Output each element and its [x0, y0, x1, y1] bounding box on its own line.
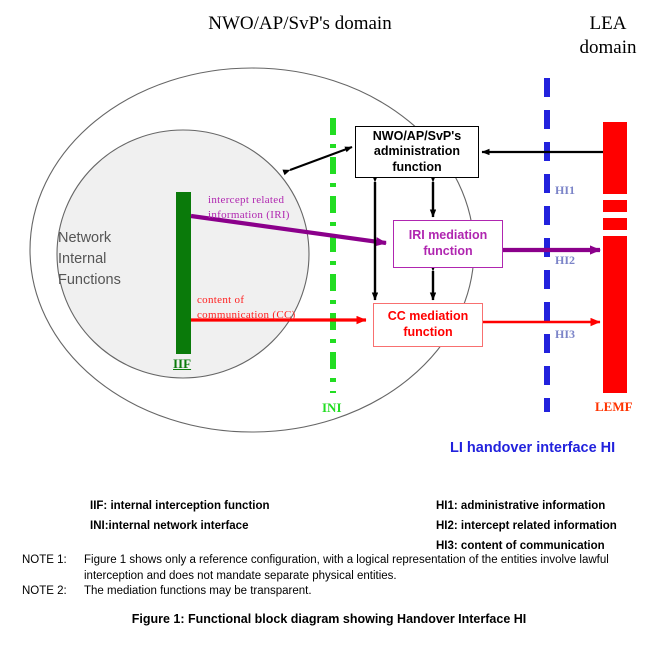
lemf-label: LEMF — [595, 399, 633, 415]
note-tag: NOTE 2: — [22, 584, 84, 600]
legend-item-iif: IIF: internal interception function — [90, 496, 270, 516]
lemf-bar-mid1 — [603, 200, 627, 212]
note-row: NOTE 2: The mediation functions may be t… — [22, 584, 658, 600]
cc-flow-label: content of communication (CC) — [197, 293, 296, 323]
hi1-label: HI1 — [555, 183, 575, 198]
cc-mediation-box[interactable]: CC mediation function — [373, 303, 483, 347]
legend-right: HI1: administrative information HI2: int… — [436, 496, 617, 556]
legend-left: IIF: internal interception function INI:… — [90, 496, 270, 536]
legend-item-ini: INI:internal network interface — [90, 516, 270, 536]
hi2-label: HI2 — [555, 253, 575, 268]
iif-bar — [176, 192, 191, 354]
hi3-label: HI3 — [555, 327, 575, 342]
admin-to-network-arrow — [290, 147, 352, 170]
iri-flow-label: intercept related information (IRI) — [208, 193, 290, 223]
ini-label: INI — [322, 400, 342, 416]
iif-label: IIF — [173, 356, 191, 372]
admin-function-box[interactable]: NWO/AP/SvP's administration function — [355, 126, 479, 178]
note-body: Figure 1 shows only a reference configur… — [84, 553, 658, 584]
figure-caption: Figure 1: Functional block diagram showi… — [0, 612, 658, 626]
note-row: NOTE 1: Figure 1 shows only a reference … — [22, 553, 658, 584]
lemf-bar-top — [603, 122, 627, 194]
li-handover-interface-label: LI handover interface HI — [450, 440, 615, 456]
figure-canvas: NWO/AP/SvP's domain LEA domain — [0, 0, 658, 646]
network-internal-functions-label: Network Internal Functions — [58, 228, 121, 291]
note-tag: NOTE 1: — [22, 553, 84, 584]
legend-item-hi1: HI1: administrative information — [436, 496, 617, 516]
legend-item-hi2: HI2: intercept related information — [436, 516, 617, 536]
notes-block: NOTE 1: Figure 1 shows only a reference … — [22, 553, 658, 600]
note-body: The mediation functions may be transpare… — [84, 584, 658, 600]
iri-mediation-box[interactable]: IRI mediation function — [393, 220, 503, 268]
lemf-bar-bottom — [603, 236, 627, 393]
lemf-bar-mid2 — [603, 218, 627, 230]
